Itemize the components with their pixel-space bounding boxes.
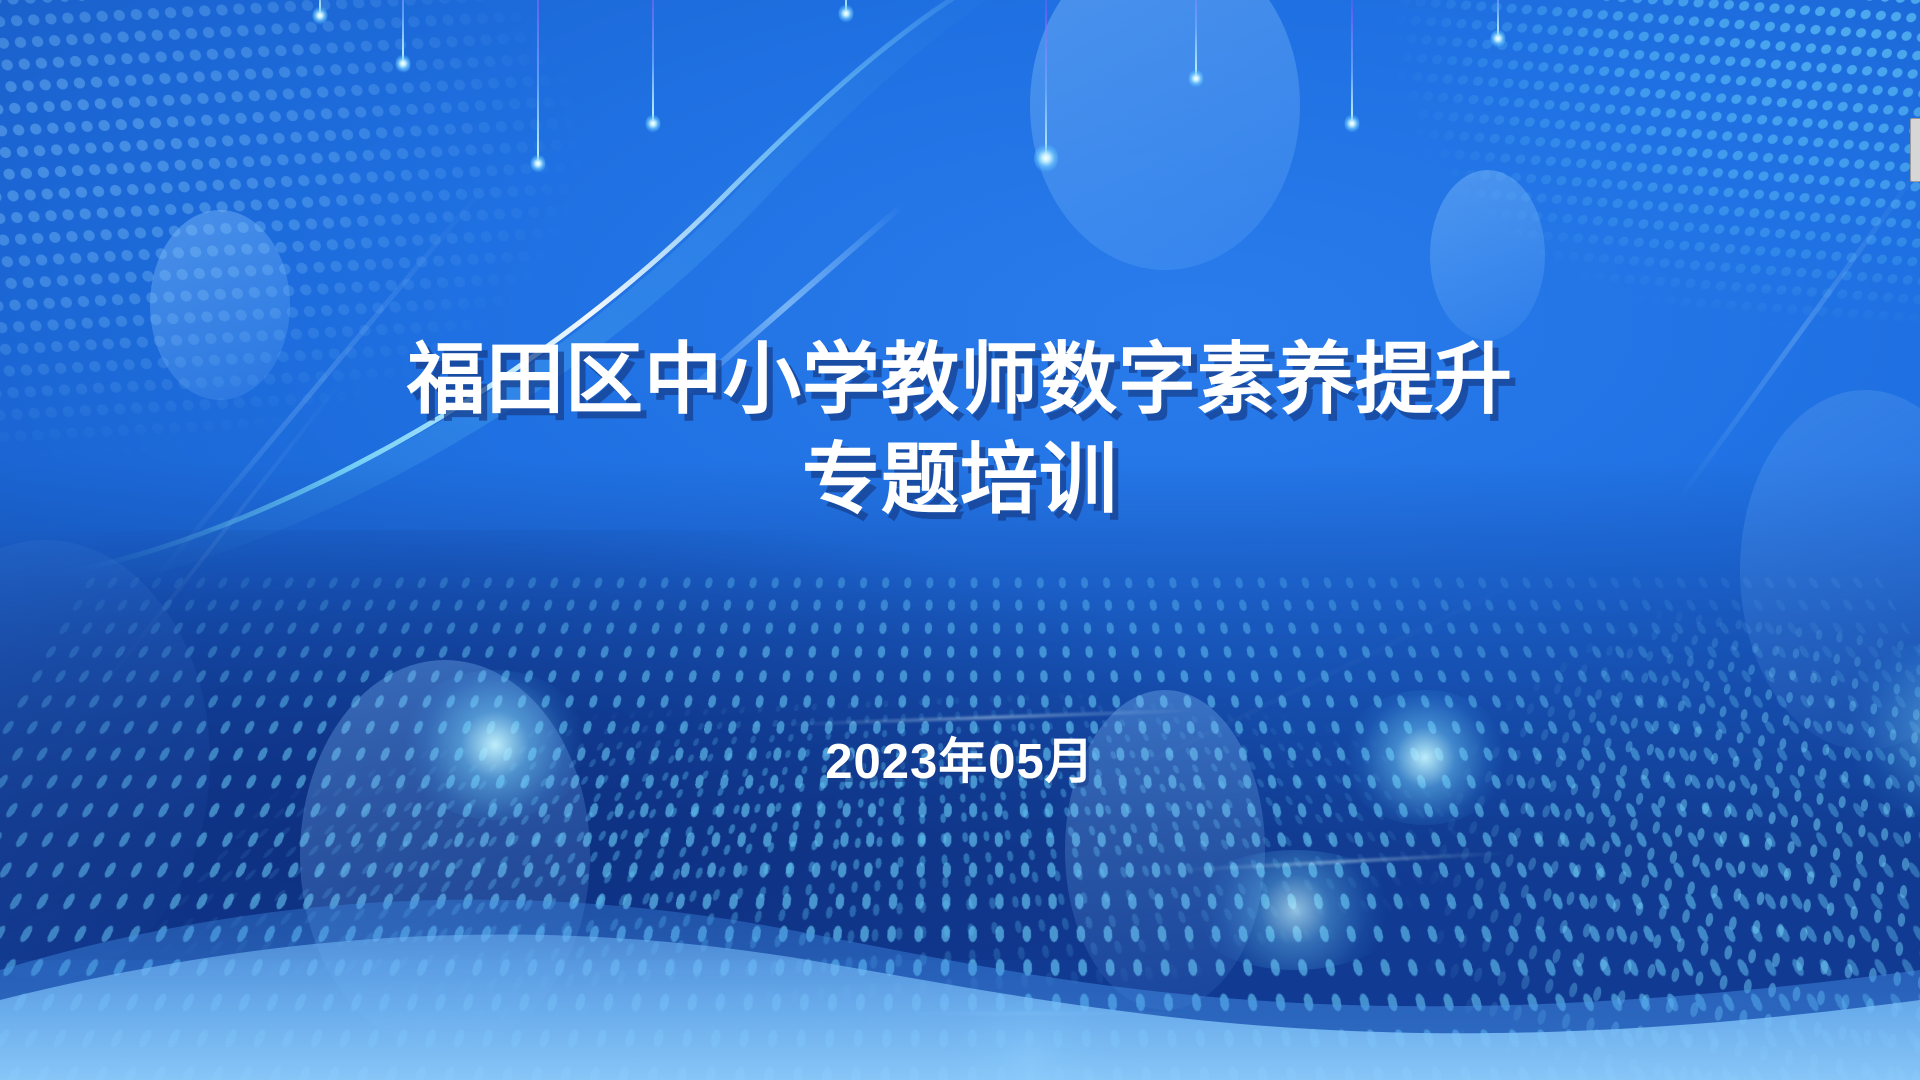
particle-trail-2 (536, 0, 539, 160)
decorative-blob-3 (1430, 170, 1545, 340)
presentation-slide: 福田区中小学教师数字素养提升 专题培训 2023年05月 (0, 0, 1920, 1080)
particle-trail-8 (318, 0, 321, 12)
particle-trail-1 (651, 0, 654, 120)
particle-trail-9 (844, 0, 847, 10)
slide-date: 2023年05月 (0, 722, 1920, 793)
particle-trail-7 (1496, 0, 1499, 35)
particle-trail-6 (1350, 0, 1353, 120)
particle-trail-3 (401, 0, 404, 60)
particle-trail-5 (1044, 0, 1047, 160)
bottom-light-wave (0, 850, 1920, 1080)
window-edge-scrollbar-sliver[interactable] (1910, 118, 1920, 182)
particle-trail-4 (1194, 0, 1197, 75)
slide-title: 福田区中小学教师数字素养提升 专题培训 (0, 330, 1920, 530)
